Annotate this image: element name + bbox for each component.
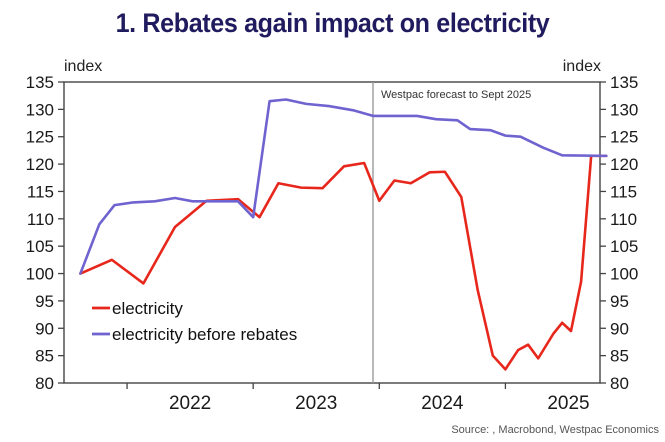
x-tick-label: 2025 [547,393,589,414]
y-tick-label-left: 135 [26,73,54,92]
forecast-annotation-label: Westpac forecast to Sept 2025 [381,89,531,101]
y-tick-label-left: 100 [26,265,54,284]
y-tick-label-right: 90 [610,319,629,338]
y-axis-left: 80859095100105110115120125130135 [26,73,64,393]
y-tick-label-left: 95 [35,292,54,311]
y-tick-label-right: 110 [610,210,637,229]
series-line-electricity-before-rebates [80,100,606,274]
x-tick-label: 2022 [169,393,211,414]
forecast-annotation: Westpac forecast to Sept 2025 [373,82,531,383]
y-tick-label-left: 105 [26,237,54,256]
y-tick-label-left: 130 [26,100,54,119]
x-tick-label: 2024 [421,393,464,414]
source-note: Source: , Macrobond, Westpac Economics [451,424,659,436]
y-tick-label-left: 90 [35,319,54,338]
y-tick-label-right: 105 [610,237,638,256]
chart-legend: electricityelectricity before rebates [92,299,297,344]
y-tick-label-right: 95 [610,292,629,311]
y-tick-label-right: 115 [610,182,637,201]
y-tick-label-left: 85 [35,347,54,366]
y-axis-right: 80859095100105110115120125130135 [600,73,638,393]
y-tick-label-right: 80 [610,374,629,393]
x-axis: 2022202320242025 [127,383,590,414]
legend-label-electricity-before-rebates: electricity before rebates [112,325,297,344]
y-tick-label-right: 120 [610,155,638,174]
x-tick-label: 2023 [295,393,337,414]
legend-label-electricity: electricity [112,299,183,318]
y-tick-label-left: 110 [27,210,54,229]
y-tick-label-left: 80 [35,374,54,393]
chart-root: 1. Rebates again impact on electricity i… [0,0,665,442]
y-tick-label-right: 100 [610,265,638,284]
y-tick-label-right: 85 [610,347,629,366]
y-tick-label-left: 125 [26,128,54,147]
y-tick-label-right: 130 [610,100,638,119]
y-tick-label-left: 115 [27,182,54,201]
chart-plot: 80859095100105110115120125130135 8085909… [0,0,665,442]
y-tick-label-left: 120 [26,155,54,174]
y-tick-label-right: 125 [610,128,638,147]
y-tick-label-right: 135 [610,73,638,92]
